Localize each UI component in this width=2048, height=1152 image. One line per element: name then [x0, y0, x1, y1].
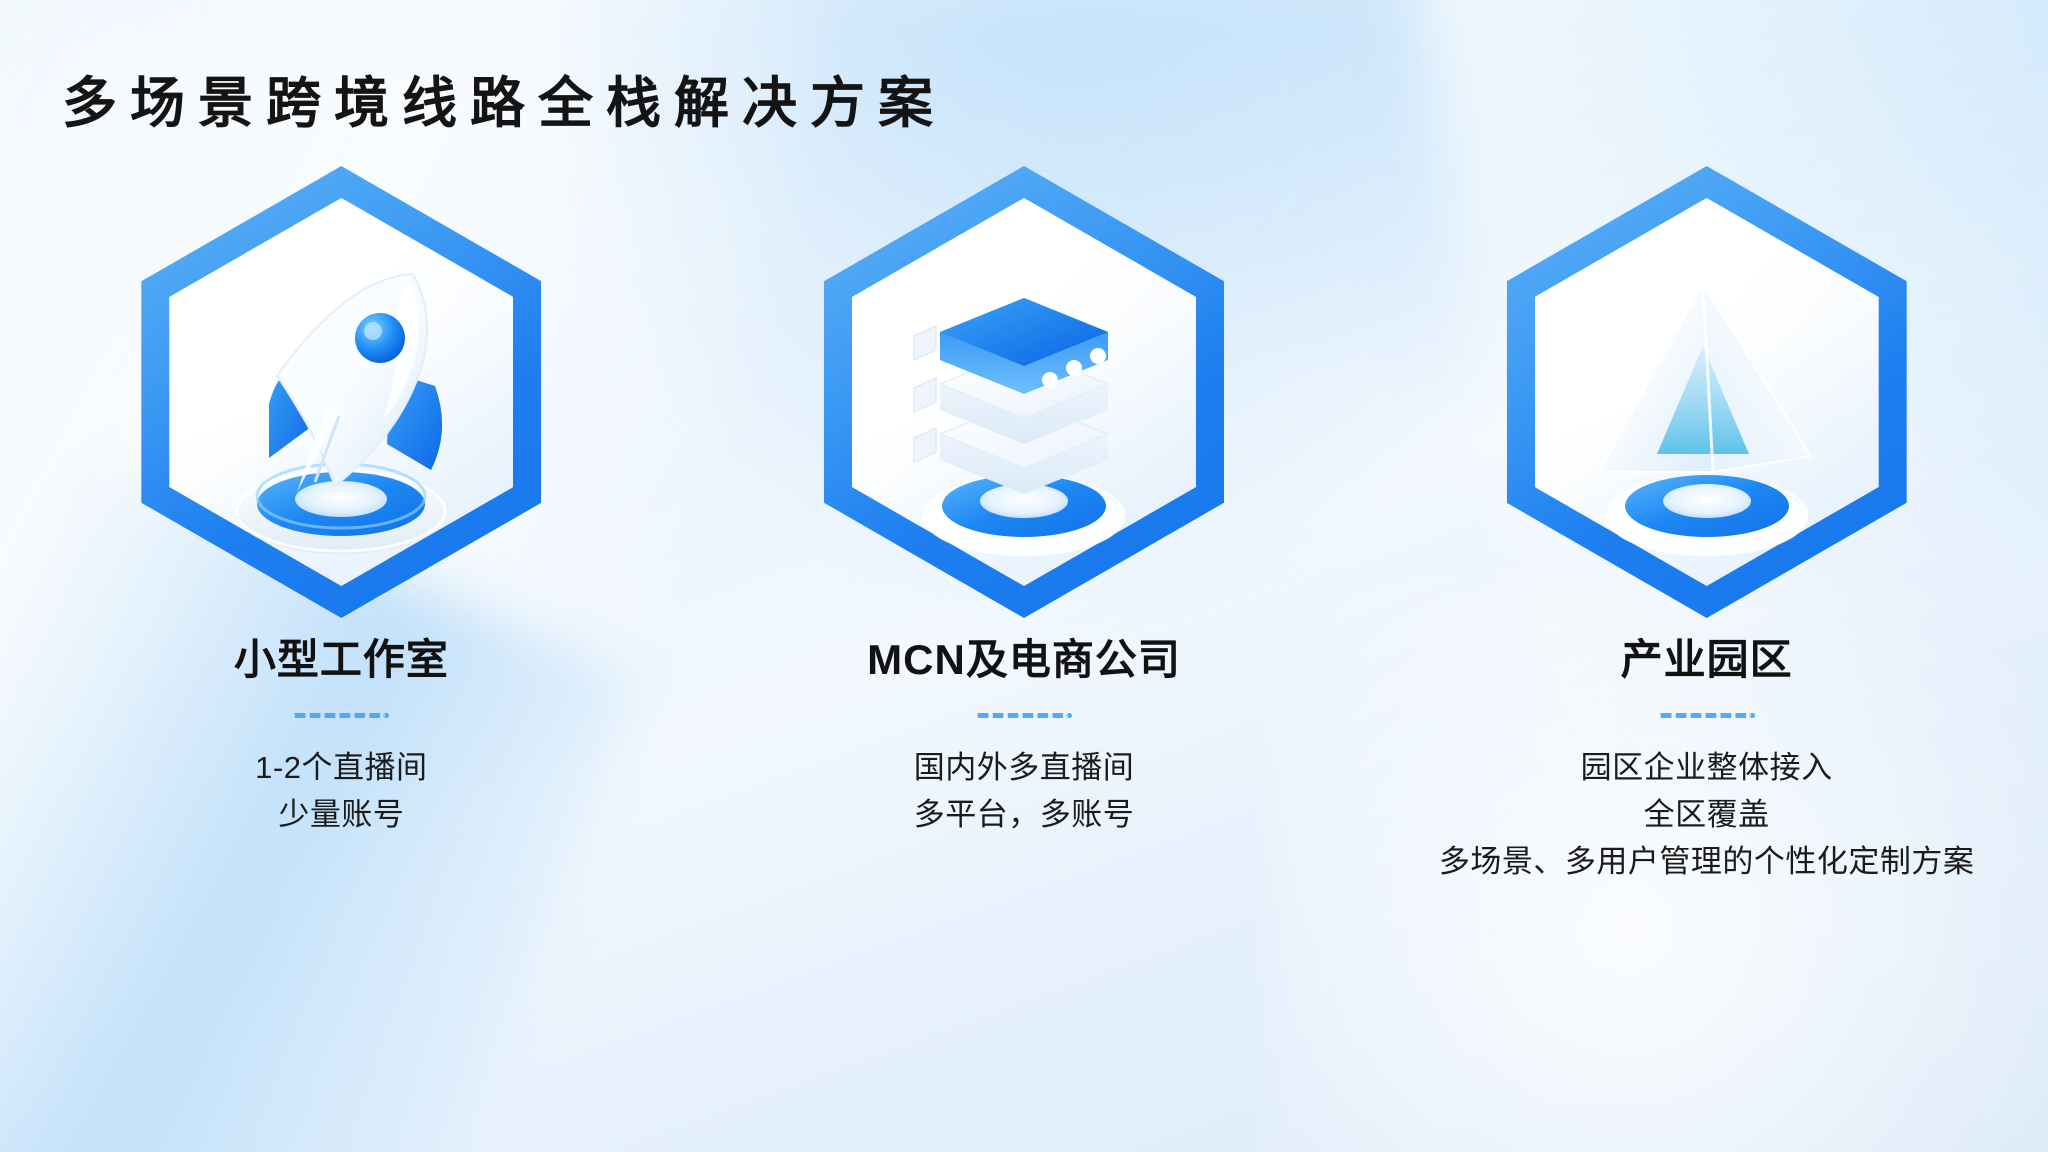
- slide-root: 多场景跨境线路全栈解决方案: [0, 0, 2048, 1152]
- card-title: 产业园区: [1621, 626, 1793, 687]
- description-line: 多场景、多用户管理的个性化定制方案: [1439, 838, 1975, 885]
- hexagon-badge: [824, 166, 1224, 618]
- card-description: 国内外多直播间 多平台，多账号: [914, 744, 1135, 838]
- card-title: MCN及电商公司: [867, 626, 1181, 687]
- glass-pyramid-hologram-icon: [1507, 166, 1907, 618]
- description-line: 园区企业整体接入: [1439, 744, 1975, 791]
- description-line: 多平台，多账号: [914, 791, 1135, 838]
- page-title: 多场景跨境线路全栈解决方案: [62, 58, 946, 138]
- description-line: 1-2个直播间: [255, 744, 427, 791]
- hexagon-badge: [141, 166, 541, 618]
- scenario-card-list: 小型工作室 1-2个直播间 少量账号: [0, 160, 2048, 1120]
- description-line: 国内外多直播间: [914, 744, 1135, 791]
- description-line: 全区覆盖: [1439, 791, 1975, 838]
- description-line: 少量账号: [255, 791, 427, 838]
- card-divider: [1659, 713, 1755, 718]
- scenario-card[interactable]: 产业园区 园区企业整体接入 全区覆盖 多场景、多用户管理的个性化定制方案: [1365, 160, 2048, 1120]
- card-divider: [293, 713, 389, 718]
- card-description: 1-2个直播间 少量账号: [255, 744, 427, 838]
- rocket-hologram-icon: [141, 166, 541, 618]
- server-stack-hologram-icon: [824, 166, 1224, 618]
- card-description: 园区企业整体接入 全区覆盖 多场景、多用户管理的个性化定制方案: [1439, 744, 1975, 885]
- hexagon-badge: [1507, 166, 1907, 618]
- card-title: 小型工作室: [234, 626, 449, 687]
- scenario-card[interactable]: 小型工作室 1-2个直播间 少量账号: [0, 160, 683, 1120]
- card-divider: [976, 713, 1072, 718]
- scenario-card[interactable]: MCN及电商公司 国内外多直播间 多平台，多账号: [683, 160, 1366, 1120]
